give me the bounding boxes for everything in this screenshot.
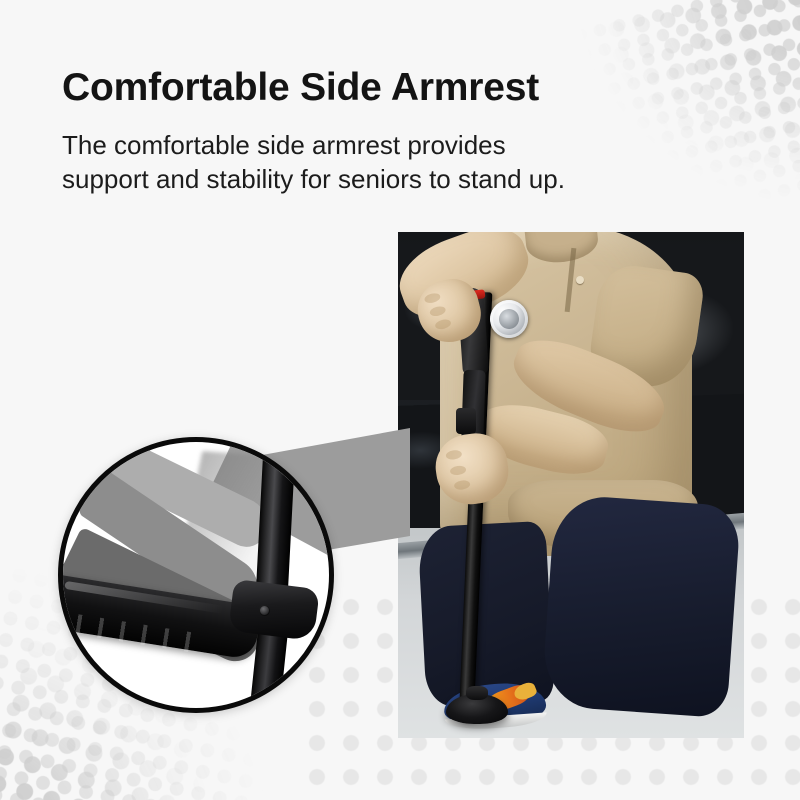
subtitle-line-2: support and stability for seniors to sta…: [62, 162, 762, 196]
knuckle: [445, 449, 462, 460]
pivot-screw: [259, 605, 270, 616]
armrest-grip-ridges: [58, 611, 205, 654]
knuckle: [450, 465, 467, 476]
trouser-leg-left: [417, 521, 554, 707]
cane-pivot-base: [446, 694, 508, 724]
product-photo: [398, 232, 744, 738]
knuckle: [454, 479, 471, 490]
product-feature-infographic: Comfortable Side Armrest The comfortable…: [0, 0, 800, 800]
shirt-button: [576, 276, 584, 284]
trouser-leg-right: [541, 494, 741, 718]
headline-block: Comfortable Side Armrest The comfortable…: [62, 64, 762, 196]
knuckle: [424, 292, 442, 305]
magnifier-contents: [63, 442, 329, 708]
page-title: Comfortable Side Armrest: [62, 64, 762, 112]
cane-armrest-joint: [456, 408, 476, 434]
subtitle-line-1: The comfortable side armrest provides: [62, 128, 762, 162]
subtitle-block: The comfortable side armrest provides su…: [62, 128, 762, 196]
knuckle: [434, 318, 452, 331]
magnifier-detail-circle: [58, 437, 334, 713]
knuckle: [429, 305, 447, 318]
armrest-pivot-block: [228, 579, 320, 641]
